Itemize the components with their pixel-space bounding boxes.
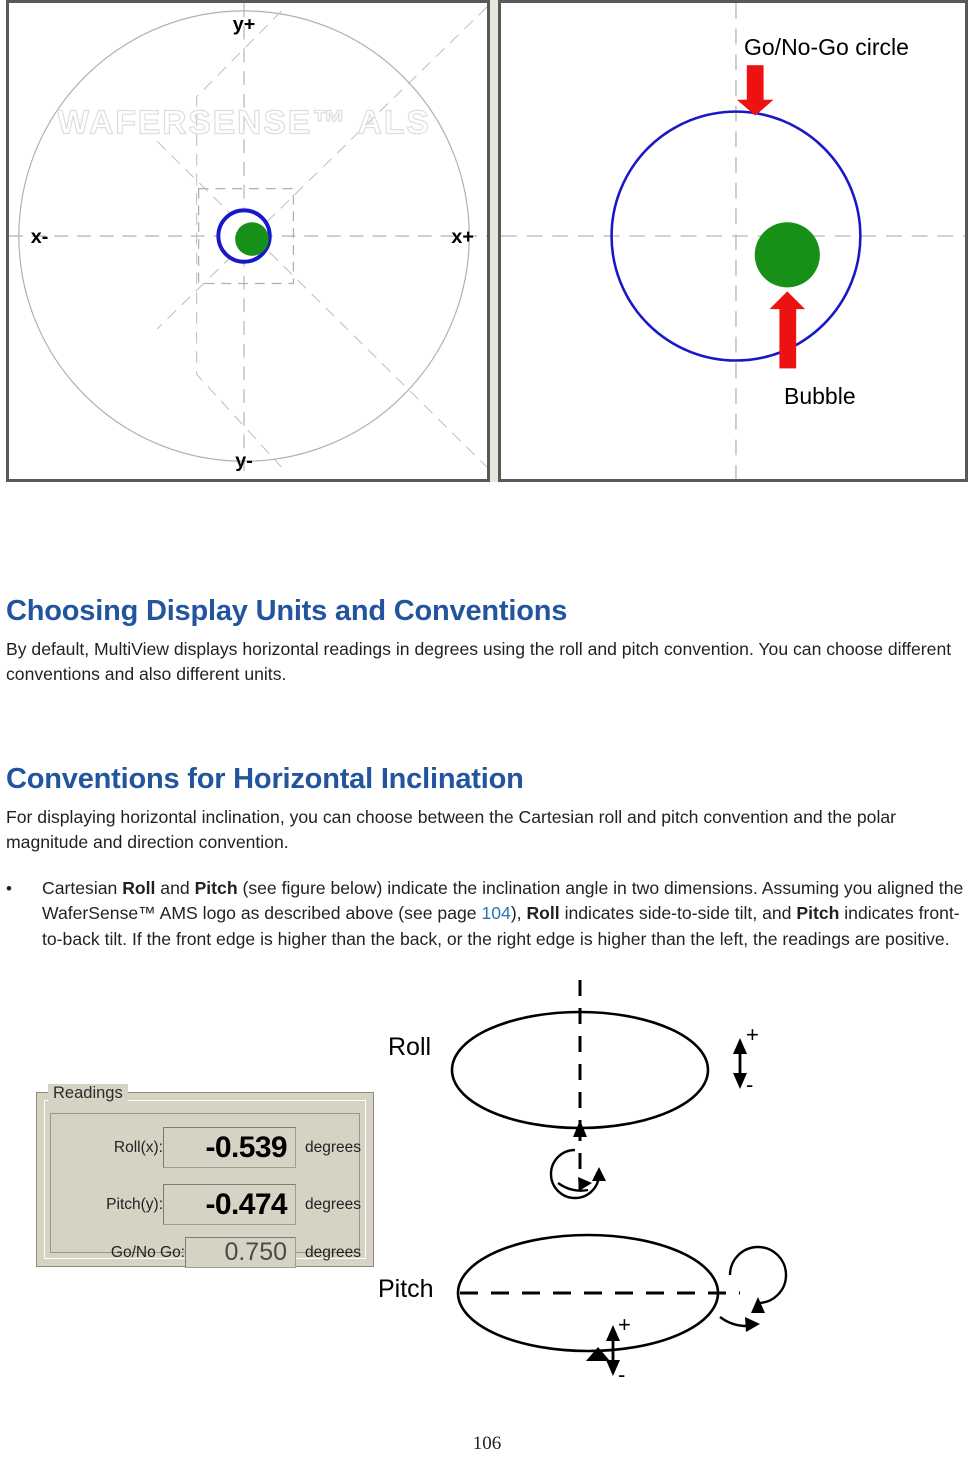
bullet-seg-4: ), (511, 903, 527, 923)
roll-arrow-up-icon (733, 1038, 747, 1054)
diagonal-guide-2 (157, 141, 487, 467)
axis-label-y-plus: y+ (233, 14, 256, 36)
callout-label-gonogo: Go/No-Go circle (744, 34, 909, 61)
heading-conventions-horizontal-inclination: Conventions for Horizontal Inclination (6, 763, 524, 795)
figure-panel-zoom-callouts: Go/No-Go circle Bubble (498, 0, 968, 482)
top-figure: y+ y- x- x+ WAFERSENSE™ ALS (6, 0, 968, 482)
table-row: Roll(x): -0.539 degrees (45, 1127, 365, 1168)
axis-label-x-minus: x- (31, 226, 49, 248)
reading-unit-pitch: degrees (305, 1196, 361, 1214)
roll-pitch-convention-diagram: Roll Pitch + - + - (370, 975, 800, 1445)
pitch-rotation-curl-icon (730, 1247, 786, 1303)
bullet-bold-pitch-1: Pitch (195, 878, 238, 898)
full-display-graphic: y+ y- x- x+ WAFERSENSE™ ALS (9, 3, 487, 479)
reading-label-gonogo: Go/No Go: (45, 1244, 185, 1262)
bullet-seg-2: and (155, 878, 194, 898)
readings-group-title: Readings (48, 1084, 128, 1103)
bubble-indicator (235, 222, 269, 256)
pitch-diagram-label: Pitch (378, 1275, 434, 1304)
callout-label-bubble: Bubble (784, 383, 856, 410)
heading-choosing-display-units: Choosing Display Units and Conventions (6, 595, 567, 627)
readings-dialog-screenshot: Roll(x): -0.539 degrees Pitch(y): -0.474… (36, 1092, 374, 1267)
roll-diagram-label: Roll (388, 1033, 431, 1062)
pitch-curl-arrowhead-2 (745, 1317, 760, 1332)
roll-arrow-down-icon (733, 1073, 747, 1089)
bullet-bold-roll-1: Roll (122, 878, 155, 898)
roll-sign-plus: + (746, 1024, 759, 1046)
figure-panel-full-display: y+ y- x- x+ WAFERSENSE™ ALS (6, 0, 490, 482)
bullet-marker: • (6, 876, 42, 952)
pitch-sign-minus: - (618, 1364, 625, 1386)
reading-label-pitch: Pitch(y): (45, 1196, 163, 1214)
bullet-bold-pitch-2: Pitch (796, 903, 839, 923)
axis-label-x-plus: x+ (451, 226, 474, 248)
roll-pitch-graphic (370, 975, 800, 1445)
roll-curl-arrowhead-1 (592, 1167, 606, 1181)
reading-label-roll: Roll(x): (45, 1139, 163, 1157)
table-row: Go/No Go: 0.750 degrees (45, 1237, 365, 1268)
gonogo-arrow-icon (737, 65, 774, 115)
bullet-bold-roll-2: Roll (526, 903, 559, 923)
reading-field-gonogo[interactable]: 0.750 (185, 1237, 296, 1268)
reading-value-pitch: -0.474 (206, 1188, 287, 1222)
bullet-seg-1: Cartesian (42, 878, 122, 898)
list-item: • Cartesian Roll and Pitch (see figure b… (6, 876, 966, 952)
bubble-arrow-icon (770, 291, 806, 368)
cross-reference-link-page-104[interactable]: 104 (481, 903, 510, 923)
dialog-inner-bevel: Roll(x): -0.539 degrees Pitch(y): -0.474… (44, 1100, 366, 1259)
wafersense-logo-text: WAFERSENSE™ ALS (57, 104, 430, 141)
reading-unit-roll: degrees (305, 1139, 361, 1157)
roll-sign-minus: - (746, 1074, 753, 1096)
pitch-rim-marker-icon (586, 1347, 610, 1361)
roll-curl-arrowhead-2 (578, 1177, 592, 1191)
reading-value-roll: -0.539 (206, 1131, 287, 1165)
table-row: Pitch(y): -0.474 degrees (45, 1184, 365, 1225)
reading-field-roll[interactable]: -0.539 (163, 1127, 296, 1168)
reading-value-gonogo: 0.750 (224, 1238, 287, 1267)
axis-label-y-minus: y- (235, 450, 253, 472)
reading-unit-gonogo: degrees (305, 1244, 361, 1262)
diagonal-guide-1 (157, 7, 487, 329)
bubble-indicator (755, 222, 820, 287)
bullet-seg-5: indicates side-to-side tilt, and (560, 903, 797, 923)
reading-field-pitch[interactable]: -0.474 (163, 1184, 296, 1225)
paragraph-choosing-display-units: By default, MultiView displays horizonta… (6, 637, 966, 687)
pitch-curl-arrowhead-1 (751, 1297, 765, 1313)
bullet-list: • Cartesian Roll and Pitch (see figure b… (6, 876, 966, 952)
bullet-item-cartesian-roll-pitch: Cartesian Roll and Pitch (see figure bel… (42, 876, 966, 952)
page-number: 106 (0, 1433, 974, 1455)
zoom-callout-graphic (501, 3, 965, 479)
pitch-sign-plus: + (618, 1314, 631, 1336)
paragraph-conventions-horizontal-inclination: For displaying horizontal inclination, y… (6, 805, 968, 855)
